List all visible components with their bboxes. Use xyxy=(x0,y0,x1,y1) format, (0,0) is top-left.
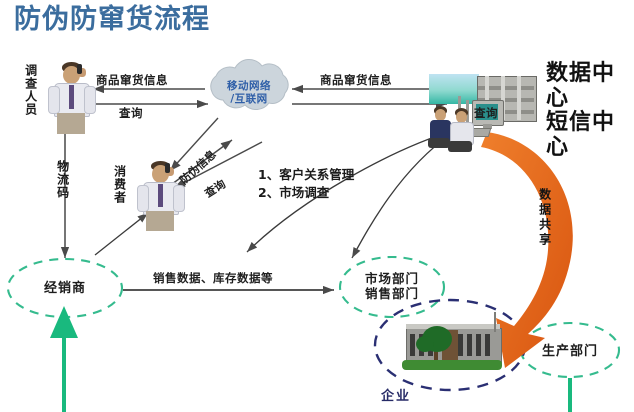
consumer-figure xyxy=(133,161,187,231)
page-title: 防伪防窜货流程 xyxy=(14,6,210,34)
operators-workstation xyxy=(428,94,510,146)
label-data-share: 数据共享 xyxy=(538,188,551,248)
market-dept-line1: 市场部门 xyxy=(342,272,442,287)
label-inv-cloud-info: 商品窜货信息 xyxy=(96,74,168,86)
diagram-canvas: 防伪防窜货流程 调查人员 消费者 物流码 移动网络 /互联网 商品窜货信息 查询… xyxy=(0,0,634,412)
data-center-heading: 数据中心 短信中心 xyxy=(546,62,634,161)
crm-list: 1、客户关系管理 2、市场调查 xyxy=(258,166,354,202)
label-inv-cloud-query: 查询 xyxy=(119,107,143,119)
label-cloud-dc-query: 查询 xyxy=(474,107,498,119)
label-enterprise: 企业 xyxy=(381,390,411,404)
data-center-line2: 短信中心 xyxy=(546,111,634,160)
label-production-dept: 生产部门 xyxy=(528,344,612,359)
investigator-figure xyxy=(44,62,98,134)
label-market-dept: 市场部门 销售部门 xyxy=(342,272,442,302)
label-sales-inventory: 销售数据、库存数据等 xyxy=(153,272,273,284)
cloud-line2: /互联网 xyxy=(206,93,292,106)
label-dealer: 经销商 xyxy=(23,281,107,296)
cloud-label-group: 移动网络 /互联网 xyxy=(206,80,292,106)
arrow-datacenter-to-market xyxy=(352,133,452,258)
label-cloud-dc-info: 商品窜货信息 xyxy=(320,74,392,86)
label-consumer: 消费者 xyxy=(113,165,126,204)
cloud-line1: 移动网络 xyxy=(206,80,292,93)
label-investigator: 调查人员 xyxy=(24,64,37,116)
crm-item-2: 2、市场调查 xyxy=(258,184,354,202)
data-center-line1: 数据中心 xyxy=(546,62,634,111)
crm-item-1: 1、客户关系管理 xyxy=(258,166,354,184)
enterprise-building-photo xyxy=(398,312,508,374)
label-logistics-code: 物流码 xyxy=(56,160,69,199)
market-dept-line2: 销售部门 xyxy=(342,287,442,302)
